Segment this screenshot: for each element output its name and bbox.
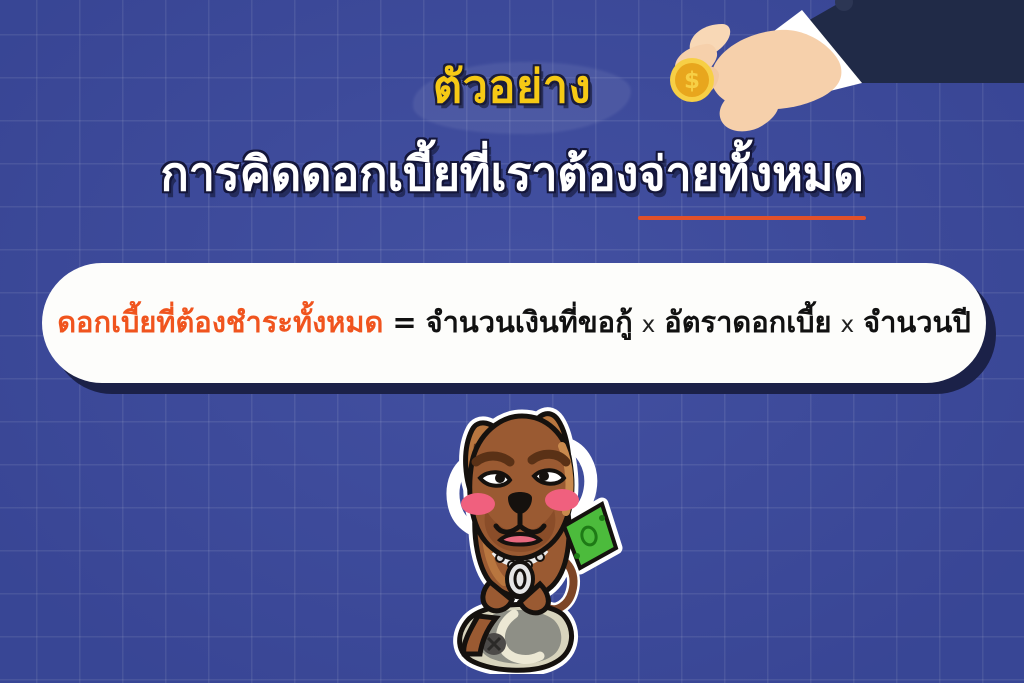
infographic-canvas: ตัวอย่าง การคิดดอกเบี้ยที่เราต้องจ่ายทั้… (0, 0, 1024, 683)
dog-pupil-left (495, 473, 505, 483)
heading-underline (638, 216, 866, 220)
formula-equals-operator: = (392, 305, 416, 340)
page-heading: การคิดดอกเบี้ยที่เราต้องจ่ายทั้งหมด (0, 150, 1024, 199)
dog-eye-right (534, 470, 564, 484)
formula-term-principal: จำนวนเงินที่ขอกู้ (426, 305, 633, 340)
coin-dollar-symbol: $ (684, 68, 700, 94)
dog-frown (500, 534, 540, 545)
formula-multiply-operator-2: x (841, 312, 855, 340)
hand-coin-svg: $ (630, 0, 1024, 148)
dog-pupil-right (539, 471, 549, 481)
grumpy-dog-illustration (416, 386, 632, 674)
gold-coin: $ (670, 58, 714, 102)
formula-multiply-operator-1: x (642, 312, 656, 340)
necklace-pendant (507, 562, 533, 596)
formula-result-term: ดอกเบี้ยที่ต้องชำระทั้งหมด (57, 305, 383, 340)
dog-cheek-right (545, 489, 579, 511)
hand-holding-coin-illustration: $ (630, 0, 1024, 148)
dog-cheek-left (461, 493, 495, 515)
formula-term-years: จำนวนปี (863, 305, 971, 340)
banknote-dot-1 (599, 515, 605, 521)
formula-term-rate: อัตราดอกเบี้ย (664, 305, 831, 340)
dog-sticker-svg (416, 386, 632, 674)
formula-card: ดอกเบี้ยที่ต้องชำระทั้งหมด = จำนวนเงินที… (42, 263, 986, 383)
dog-eye-left (480, 472, 510, 486)
formula-expression: ดอกเบี้ยที่ต้องชำระทั้งหมด = จำนวนเงินที… (57, 305, 971, 342)
banknote-dot-2 (574, 553, 580, 559)
